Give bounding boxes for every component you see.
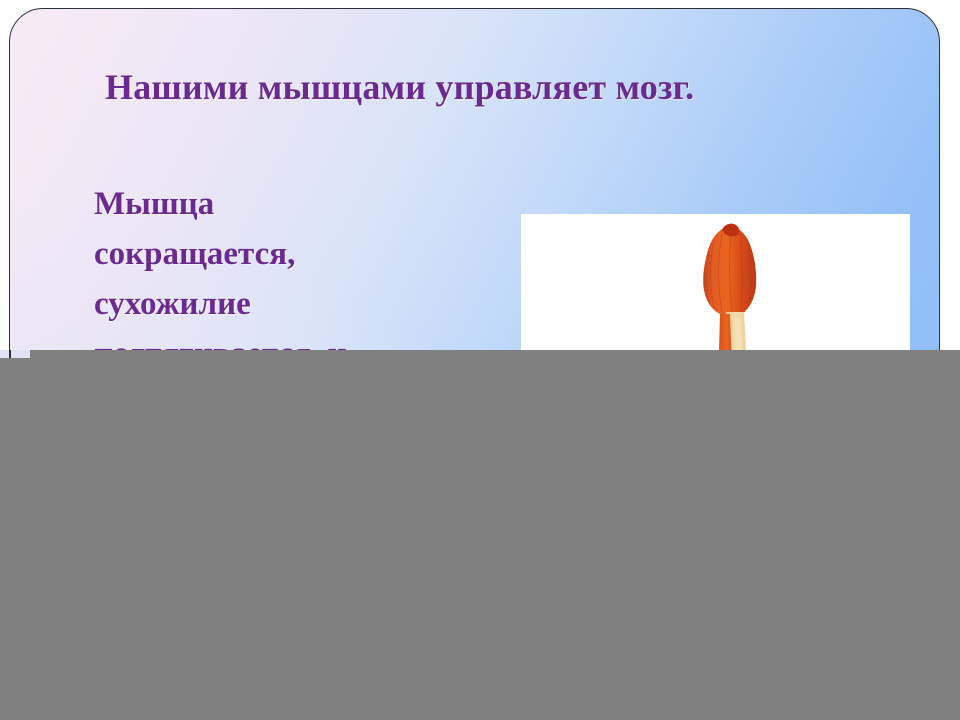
slide-left-border-segment <box>9 350 11 358</box>
screenshot-canvas: Нашими мышцами управляет мозг. Мышца сок… <box>0 0 960 720</box>
slide-title: Нашими мышцами управляет мозг. <box>105 65 905 109</box>
gray-occlusion-overlay <box>0 350 960 720</box>
body-line: Мышца <box>94 179 424 229</box>
body-line: сокращается, <box>94 229 424 279</box>
slide-body-text: Мышца сокращается, сухожилие подтягивает… <box>94 179 424 379</box>
gray-occlusion-notch <box>0 350 30 358</box>
body-line: сухожилие <box>94 279 424 329</box>
